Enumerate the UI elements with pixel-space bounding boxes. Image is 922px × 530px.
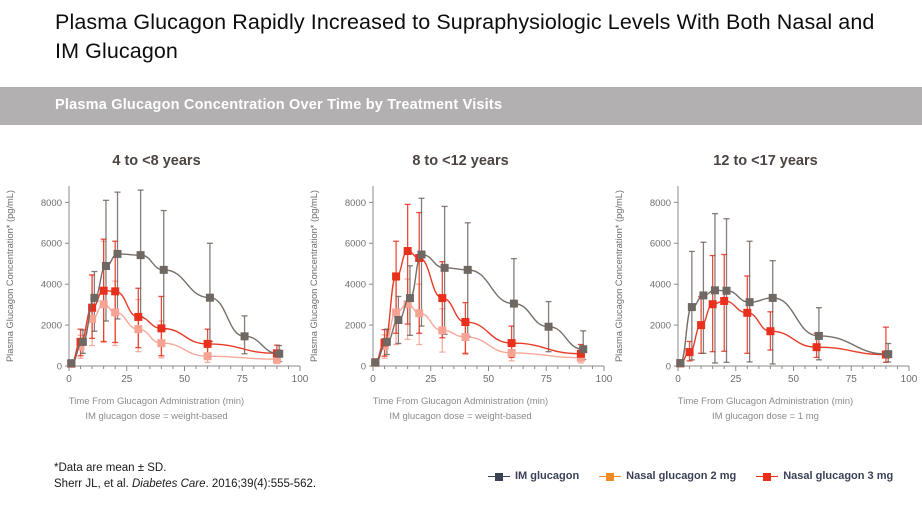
- x-axis-sublabel: IM glucagon dose = weight-based: [3, 411, 310, 422]
- svg-text:0: 0: [666, 361, 671, 372]
- citation-author: Sherr JL, et al.: [54, 478, 132, 490]
- chart-panels: 4 to <8 years Plasma Glucagon Concentrat…: [0, 150, 922, 440]
- legend-marker-icon: [488, 471, 510, 482]
- svg-text:0: 0: [361, 361, 366, 372]
- svg-text:6000: 6000: [650, 239, 671, 250]
- svg-text:8000: 8000: [345, 198, 366, 209]
- svg-text:0: 0: [66, 374, 72, 385]
- svg-text:75: 75: [237, 374, 249, 385]
- slide: Plasma Glucagon Rapidly Increased to Sup…: [0, 0, 922, 530]
- panel-title: 12 to <17 years: [612, 153, 919, 169]
- legend-marker-icon: [756, 471, 778, 482]
- x-axis-label: Time From Glucagon Administration (min): [612, 396, 919, 407]
- legend-item-im-glucagon: IM glucagon: [488, 470, 579, 482]
- plot-svg: Plasma Glucagon Concentration* (pg/mL)02…: [307, 178, 614, 396]
- chart-panel-8-to-12: 8 to <12 years Plasma Glucagon Concentra…: [307, 150, 614, 440]
- plot-area: Plasma Glucagon Concentration* (pg/mL)02…: [3, 178, 310, 396]
- legend-square: [495, 473, 503, 481]
- svg-text:0: 0: [370, 374, 376, 385]
- legend-square: [763, 473, 771, 481]
- svg-text:25: 25: [425, 374, 437, 385]
- legend-marker-icon: [599, 471, 621, 482]
- svg-text:Plasma Glucagon Concentration*: Plasma Glucagon Concentration* (pg/mL): [5, 190, 15, 362]
- svg-text:4000: 4000: [345, 280, 366, 291]
- footnote-citation: Sherr JL, et al. Diabetes Care. 2016;39(…: [54, 477, 454, 493]
- svg-text:2000: 2000: [345, 320, 366, 331]
- svg-text:2000: 2000: [41, 320, 62, 331]
- chart-panel-4-to-8: 4 to <8 years Plasma Glucagon Concentrat…: [3, 150, 310, 440]
- svg-text:25: 25: [730, 374, 742, 385]
- svg-text:4000: 4000: [650, 280, 671, 291]
- svg-text:Plasma Glucagon Concentration*: Plasma Glucagon Concentration* (pg/mL): [309, 190, 319, 362]
- panel-title: 4 to <8 years: [3, 153, 310, 169]
- panel-title: 8 to <12 years: [307, 153, 614, 169]
- svg-text:0: 0: [675, 374, 681, 385]
- citation-journal: Diabetes Care: [132, 478, 206, 490]
- svg-text:8000: 8000: [41, 198, 62, 209]
- legend-label: Nasal glucagon 3 mg: [783, 470, 893, 482]
- legend-item-nasal-3mg: Nasal glucagon 3 mg: [756, 470, 893, 482]
- legend-square: [606, 473, 614, 481]
- page-title: Plasma Glucagon Rapidly Increased to Sup…: [55, 8, 885, 66]
- svg-text:100: 100: [596, 374, 613, 385]
- section-banner-label: Plasma Glucagon Concentration Over Time …: [55, 97, 502, 113]
- legend-label: IM glucagon: [515, 470, 579, 482]
- plot-svg: Plasma Glucagon Concentration* (pg/mL)02…: [3, 178, 310, 396]
- x-axis-sublabel: IM glucagon dose = 1 mg: [612, 411, 919, 422]
- svg-text:75: 75: [846, 374, 858, 385]
- svg-text:50: 50: [483, 374, 495, 385]
- svg-text:50: 50: [179, 374, 191, 385]
- svg-text:75: 75: [541, 374, 553, 385]
- citation-detail: . 2016;39(4):555-562.: [206, 478, 317, 490]
- svg-text:4000: 4000: [41, 280, 62, 291]
- svg-text:2000: 2000: [650, 320, 671, 331]
- x-axis-label: Time From Glucagon Administration (min): [3, 396, 310, 407]
- chart-panel-12-to-17: 12 to <17 years Plasma Glucagon Concentr…: [612, 150, 919, 440]
- svg-text:50: 50: [788, 374, 800, 385]
- footnote-data-note: *Data are mean ± SD.: [54, 461, 454, 477]
- svg-text:25: 25: [121, 374, 133, 385]
- svg-text:6000: 6000: [345, 239, 366, 250]
- svg-text:100: 100: [901, 374, 918, 385]
- svg-text:8000: 8000: [650, 198, 671, 209]
- legend-label: Nasal glucagon 2 mg: [626, 470, 736, 482]
- footnote: *Data are mean ± SD. Sherr JL, et al. Di…: [54, 461, 454, 492]
- plot-area: Plasma Glucagon Concentration* (pg/mL)02…: [612, 178, 919, 396]
- svg-text:0: 0: [57, 361, 62, 372]
- chart-legend: IM glucagon Nasal glucagon 2 mg Nasal gl…: [488, 470, 893, 482]
- svg-text:Plasma Glucagon Concentration*: Plasma Glucagon Concentration* (pg/mL): [614, 190, 624, 362]
- plot-svg: Plasma Glucagon Concentration* (pg/mL)02…: [612, 178, 919, 396]
- legend-item-nasal-2mg: Nasal glucagon 2 mg: [599, 470, 736, 482]
- x-axis-sublabel: IM glucagon dose = weight-based: [307, 411, 614, 422]
- x-axis-label: Time From Glucagon Administration (min): [307, 396, 614, 407]
- svg-text:6000: 6000: [41, 239, 62, 250]
- plot-area: Plasma Glucagon Concentration* (pg/mL)02…: [307, 178, 614, 396]
